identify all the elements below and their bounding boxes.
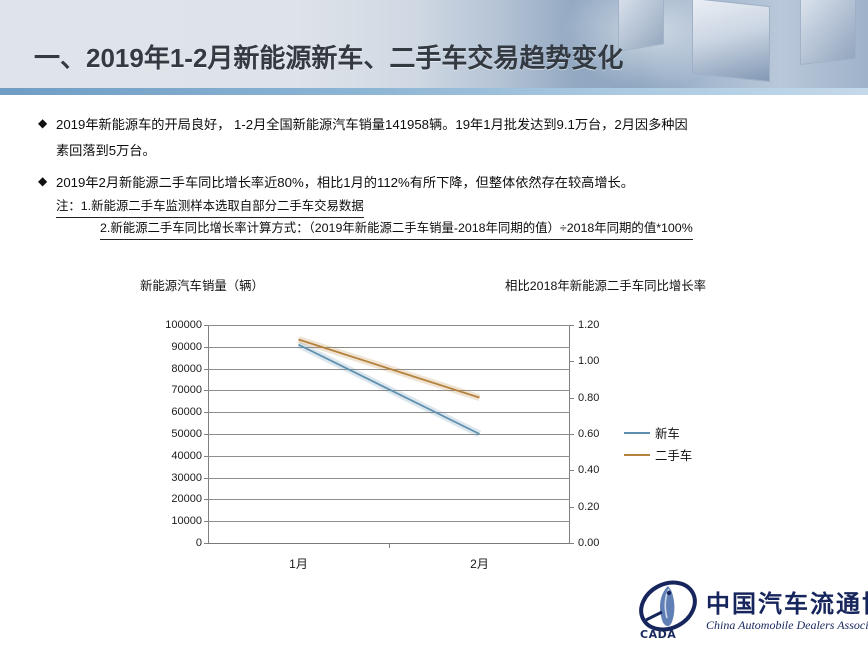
bullet-line: 2019年新能源车的开局良好， 1-2月全国新能源汽车销量141958辆。19年… xyxy=(56,117,688,132)
logo-acronym: CADA xyxy=(640,628,676,641)
y-axis-right-tick-mark xyxy=(570,434,574,435)
y-axis-right-tick-label: 0.80 xyxy=(578,392,618,404)
bullet-text-block: 2019年新能源车的开局良好， 1-2月全国新能源汽车销量141958辆。19年… xyxy=(56,112,838,164)
list-item: ◆ 2019年2月新能源二手车同比增长率近80%，相比1月的112%有所下降，但… xyxy=(38,170,838,196)
bullet-text-block: 2019年2月新能源二手车同比增长率近80%，相比1月的112%有所下降，但整体… xyxy=(56,170,838,196)
y-axis-left-tick-label: 70000 xyxy=(142,384,202,396)
y-axis-right-tick-mark xyxy=(570,470,574,471)
chart-legend: 新车二手车 xyxy=(624,422,692,466)
diamond-bullet-icon: ◆ xyxy=(38,170,56,192)
y-axis-left-tick-label: 100000 xyxy=(142,319,202,331)
y-axis-left-tick-label: 10000 xyxy=(142,515,202,527)
note-line-2: 2.新能源二手车同比增长率计算方式：（2019年新能源二手车销量-2018年同期… xyxy=(100,218,693,240)
logo-english-name: China Automobile Dealers Association xyxy=(706,618,868,633)
y-axis-right-tick-label: 0.20 xyxy=(578,501,618,513)
bullet-line: 素回落到5万台。 xyxy=(56,138,838,164)
bullet-line: 2019年2月新能源二手车同比增长率近80%，相比1月的112%有所下降，但整体… xyxy=(56,175,634,190)
header-cube-icon xyxy=(618,0,664,52)
y-axis-right-tick-mark xyxy=(570,361,574,362)
notes-block: 注：1.新能源二手车监测样本选取自部分二手车交易数据 2.新能源二手车同比增长率… xyxy=(56,196,756,240)
x-axis-tick-label: 1月 xyxy=(289,555,308,572)
page-title: 一、2019年1-2月新能源新车、二手车交易趋势变化 xyxy=(34,38,623,75)
note-row: 2.新能源二手车同比增长率计算方式：（2019年新能源二手车销量-2018年同期… xyxy=(56,218,756,240)
y-axis-left-tick-label: 50000 xyxy=(142,428,202,440)
y-axis-left-tick-label: 20000 xyxy=(142,493,202,505)
y-axis-right-tick-label: 0.00 xyxy=(578,537,618,549)
y-axis-left-tick-label: 90000 xyxy=(142,341,202,353)
note-line-1: 注：1.新能源二手车监测样本选取自部分二手车交易数据 xyxy=(56,196,364,218)
y-axis-left-tick-label: 80000 xyxy=(142,363,202,375)
y-axis-right-tick-mark xyxy=(570,543,574,544)
legend-label: 二手车 xyxy=(655,446,692,464)
chart: 新能源汽车销量（辆） 相比2018年新能源二手车同比增长率 0100002000… xyxy=(0,262,868,572)
y-axis-right-tick-label: 1.20 xyxy=(578,319,618,331)
diamond-bullet-icon: ◆ xyxy=(38,112,56,134)
list-item: ◆ 2019年新能源车的开局良好， 1-2月全国新能源汽车销量141958辆。1… xyxy=(38,112,838,164)
legend-line-swatch-icon xyxy=(624,454,650,456)
legend-line-swatch-icon xyxy=(624,432,650,434)
legend-item[interactable]: 二手车 xyxy=(624,444,692,466)
header-accent-bar xyxy=(0,88,868,95)
legend-item[interactable]: 新车 xyxy=(624,422,692,444)
header-cube-icon xyxy=(800,0,856,65)
note-row: 注：1.新能源二手车监测样本选取自部分二手车交易数据 xyxy=(56,196,756,218)
logo-chinese-name: 中国汽车流通协会 xyxy=(706,584,868,619)
y-axis-left-tick-mark xyxy=(204,543,208,544)
y-axis-title-right: 相比2018年新能源二手车同比增长率 xyxy=(505,276,706,294)
y-axis-left-tick-label: 0 xyxy=(142,537,202,549)
x-axis-tick-label: 2月 xyxy=(470,555,489,572)
y-axis-left-tick-label: 60000 xyxy=(142,406,202,418)
y-axis-right-tick-mark xyxy=(570,507,574,508)
y-axis-right-tick-label: 0.60 xyxy=(578,428,618,440)
y-axis-left-tick-label: 30000 xyxy=(142,472,202,484)
x-axis-tick-mark xyxy=(389,543,390,548)
header-cube-icon xyxy=(692,0,770,82)
y-axis-right-tick-mark xyxy=(570,325,574,326)
y-axis-left-tick-label: 40000 xyxy=(142,450,202,462)
plot-area: 0100002000030000400005000060000700008000… xyxy=(208,325,570,543)
cada-logo: CADA 中国汽车流通协会 China Automobile Dealers A… xyxy=(638,578,860,646)
legend-label: 新车 xyxy=(655,424,680,442)
series-lines xyxy=(208,325,570,543)
y-axis-right-tick-label: 1.00 xyxy=(578,355,618,367)
y-axis-title-left: 新能源汽车销量（辆） xyxy=(140,276,264,294)
bullet-list: ◆ 2019年新能源车的开局良好， 1-2月全国新能源汽车销量141958辆。1… xyxy=(38,112,838,202)
y-axis-right-tick-mark xyxy=(570,398,574,399)
y-axis-right-tick-label: 0.40 xyxy=(578,464,618,476)
slide-root: 一、2019年1-2月新能源新车、二手车交易趋势变化 ◆ 2019年新能源车的开… xyxy=(0,0,868,651)
